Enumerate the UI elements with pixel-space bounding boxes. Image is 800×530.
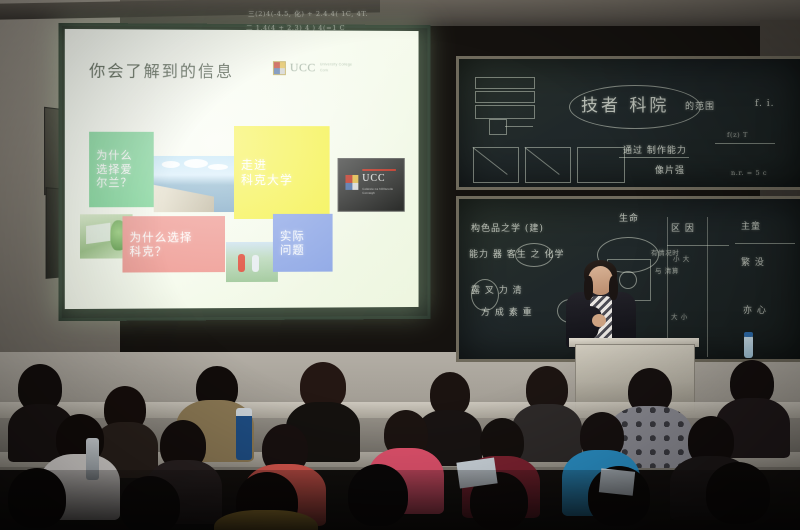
chalk-top-right3: n.r. = 5 c <box>731 169 767 177</box>
audience-body <box>214 510 318 530</box>
chalk-top-sub1: 的范围 <box>685 99 715 112</box>
chalk-b-c1l1: 构色品之学 (建) <box>471 221 544 234</box>
presenter-hand <box>592 314 606 327</box>
ucc-sign-crest-icon <box>345 175 358 190</box>
projected-slide: 你会了解到的信息 UCC University College Cork UCC <box>65 29 419 309</box>
thermos-bottle <box>236 408 252 460</box>
ucc-crest-icon <box>273 61 286 75</box>
chalk-b-c4l3: 亦 心 <box>743 303 767 316</box>
ucc-sign-word: UCC <box>362 173 385 184</box>
audience-head <box>120 476 180 530</box>
handout-paper <box>599 468 635 495</box>
chalk-b-c4l1: 主童 <box>741 219 761 232</box>
chalk-top-sub2: 通过 制作能力 <box>623 143 687 156</box>
water-bottle <box>744 336 753 358</box>
photo-ucc-sign: UCC Coláiste na hOllscoile Corcaigh <box>338 158 405 212</box>
audience-head <box>348 464 408 526</box>
chalk-b-c3l1: 区 因 <box>671 221 695 234</box>
water-bottle-cap <box>744 332 753 337</box>
slide-tile-practical-issues: 实际 问题 <box>273 214 333 272</box>
handout-paper <box>456 457 497 488</box>
lecture-hall-photo: 技者 科院 的范围 通过 制作能力 像片强 f. i. f(z) T n.r. … <box>0 0 800 530</box>
slide-title: 你会了解到的信息 <box>89 57 234 82</box>
tile-green-text: 为什么 选择爱 尔兰？ <box>89 149 140 189</box>
thermos-bottle <box>86 438 99 480</box>
ucc-line2: Cork <box>320 68 328 72</box>
ucc-logo: UCC University College Cork <box>273 60 352 75</box>
tile-red-text: 为什么选择 科克？ <box>122 230 199 258</box>
blackboard-upper-right: 技者 科院 的范围 通过 制作能力 像片强 f. i. f(z) T n.r. … <box>456 56 800 190</box>
ucc-line1: University College <box>320 62 352 66</box>
ucc-sign-tagline: Coláiste na hOllscoile Corcaigh <box>362 187 403 195</box>
tile-blue-text: 实际 问题 <box>273 229 312 257</box>
chalk-b-c2l1: 生命 <box>619 211 639 224</box>
chalk-top-sub3: 像片强 <box>655 163 685 176</box>
chalk-b-c4l2: 繁 没 <box>741 255 765 268</box>
chalk-top-right1: f. i. <box>755 99 774 109</box>
presenter-hair-right <box>609 276 618 300</box>
audience <box>0 360 800 530</box>
audience-head <box>706 462 770 524</box>
slide-tile-about-ucc: 走进 科克大学 <box>234 126 330 219</box>
photo-cliffs <box>154 156 234 212</box>
presenter-hair-left <box>584 276 593 300</box>
chalk-b-c3l3: 大 小 <box>671 311 688 321</box>
tile-yellow-text: 走进 科克大学 <box>234 158 300 187</box>
chalk-b-c3l2: 小 大 <box>673 253 690 263</box>
audience-head <box>8 468 66 528</box>
slide-tile-why-cork: 为什么选择 科克？ <box>122 216 225 272</box>
ucc-subtitle: University College Cork <box>320 62 352 73</box>
photo-sport <box>226 242 278 282</box>
chalk-headline: 技者 科院 <box>581 91 669 116</box>
slide-tile-why-ireland: 为什么 选择爱 尔兰？ <box>89 132 154 207</box>
ucc-wordmark: UCC <box>290 60 316 75</box>
chalk-top-right2: f(z) T <box>727 131 748 139</box>
